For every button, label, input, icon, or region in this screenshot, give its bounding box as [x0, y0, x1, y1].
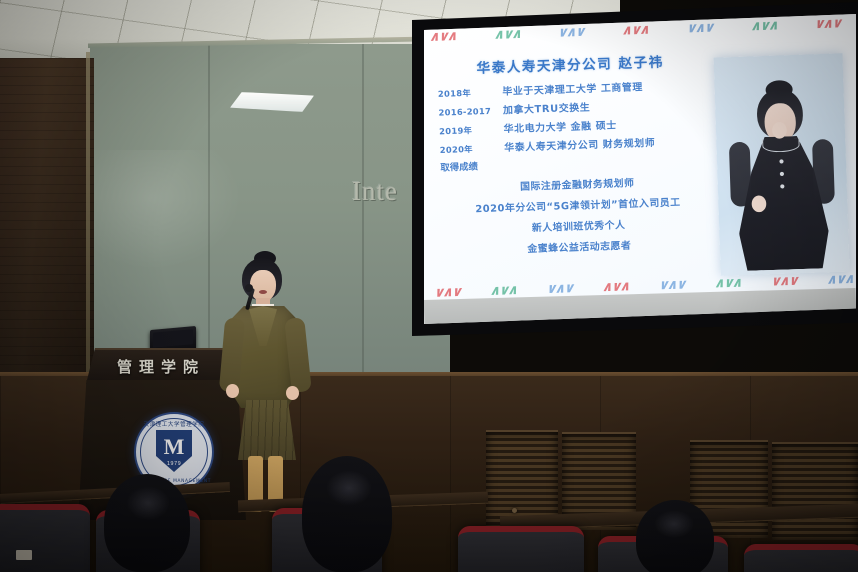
microphone-head-icon: [245, 284, 253, 292]
scribble-mark: ∧∨∧: [620, 22, 651, 39]
portrait-arm-left: [729, 142, 752, 207]
cv-year: 2018年: [438, 86, 503, 100]
seat[interactable]: [458, 526, 584, 572]
emblem-chinese-text: 天津理工大学管理学院: [136, 420, 212, 428]
cv-text: 毕业于天津理工大学 工商管理: [502, 79, 643, 98]
achievement-item: 新人培训班优秀个人: [442, 214, 715, 238]
cv-year: 2016-2017: [438, 106, 503, 117]
scribble-mark: ∨∧∨: [432, 284, 463, 301]
audience-head-highlight: [326, 470, 372, 506]
seat[interactable]: [0, 504, 90, 572]
slide-achievements-list: 国际注册金融财务规划师 2020年分公司“5G津领计划”首位入司员工 新人培训班…: [441, 172, 716, 264]
audience-head-highlight: [126, 486, 170, 520]
audience-head-highlight: [654, 510, 694, 538]
left-wood-panel: [0, 58, 94, 388]
presenter-hand-right: [286, 386, 299, 400]
scribble-mark: ∧∨∧: [488, 282, 519, 299]
scribble-mark: ∨∧∨: [556, 24, 587, 41]
scribble-mark: ∧∨∧: [492, 26, 523, 43]
achievement-item: 2020年分公司“5G津领计划”首位入司员工: [442, 193, 715, 217]
podium-label: 管理学院: [86, 356, 236, 377]
seat[interactable]: [744, 544, 858, 572]
slide-portrait-photo: [714, 53, 850, 276]
scribble-mark: ∨∧∨: [657, 276, 688, 293]
scribble-mark: ∧∨∧: [825, 271, 856, 288]
portrait-figure: [725, 85, 839, 272]
scribble-mark: ∨∧∨: [769, 273, 800, 290]
presentation-slide: ∧∨∧ ∧∨∧ ∨∧∨ ∧∨∧ ∨∧∨ ∧∨∧ ∨∧∨ 华泰人寿天津分公司 赵子…: [424, 14, 856, 313]
presenter-hand-left: [226, 384, 239, 398]
audience-row: [0, 452, 858, 572]
wall-seam: [362, 44, 364, 384]
achievement-item: 国际注册金融财务规划师: [441, 172, 714, 196]
wall-signage-text: Inte: [352, 176, 398, 207]
presenter-skirt: [238, 400, 296, 460]
cv-text: 加拿大TRU交换生: [503, 99, 591, 116]
cv-text: 华泰人寿天津分公司 财务规划师: [504, 134, 656, 154]
seat-number-tag: [16, 550, 32, 560]
cv-text: 华北电力大学 金融 硕士: [503, 117, 617, 135]
slide-cv-list: 2018年 毕业于天津理工大学 工商管理 2016-2017 加拿大TRU交换生…: [438, 77, 711, 174]
scribble-mark: ∨∧∨: [812, 15, 843, 32]
scribble-mark: ∨∧∨: [544, 280, 575, 297]
cv-year: 2020年: [440, 143, 505, 157]
presenter-mouth: [259, 290, 267, 294]
achievement-item: 金蜜蜂公益活动志愿者: [443, 234, 716, 258]
scribble-mark: ∨∧∨: [684, 20, 715, 37]
scribble-mark: ∧∨∧: [748, 17, 779, 34]
slide-title: 华泰人寿天津分公司 赵子祎: [445, 50, 695, 78]
lecture-hall-photo: Inte ∧∨∧ ∧∨∧ ∨∧∨ ∧∨∧ ∨∧∨ ∧∨∧ ∨∧∨ 华泰人寿天津分…: [0, 0, 858, 572]
projector-screen[interactable]: ∧∨∧ ∧∨∧ ∨∧∨ ∧∨∧ ∨∧∨ ∧∨∧ ∨∧∨ 华泰人寿天津分公司 赵子…: [424, 14, 856, 324]
scribble-mark: ∧∨∧: [713, 275, 744, 292]
scribble-mark: ∧∨∧: [600, 278, 631, 295]
portrait-arm-right: [812, 139, 835, 204]
cv-year: 2019年: [439, 124, 504, 138]
wood-panel-edge: [86, 52, 90, 392]
wall-sheen: [92, 150, 242, 270]
scribble-mark: ∧∨∧: [428, 28, 459, 45]
